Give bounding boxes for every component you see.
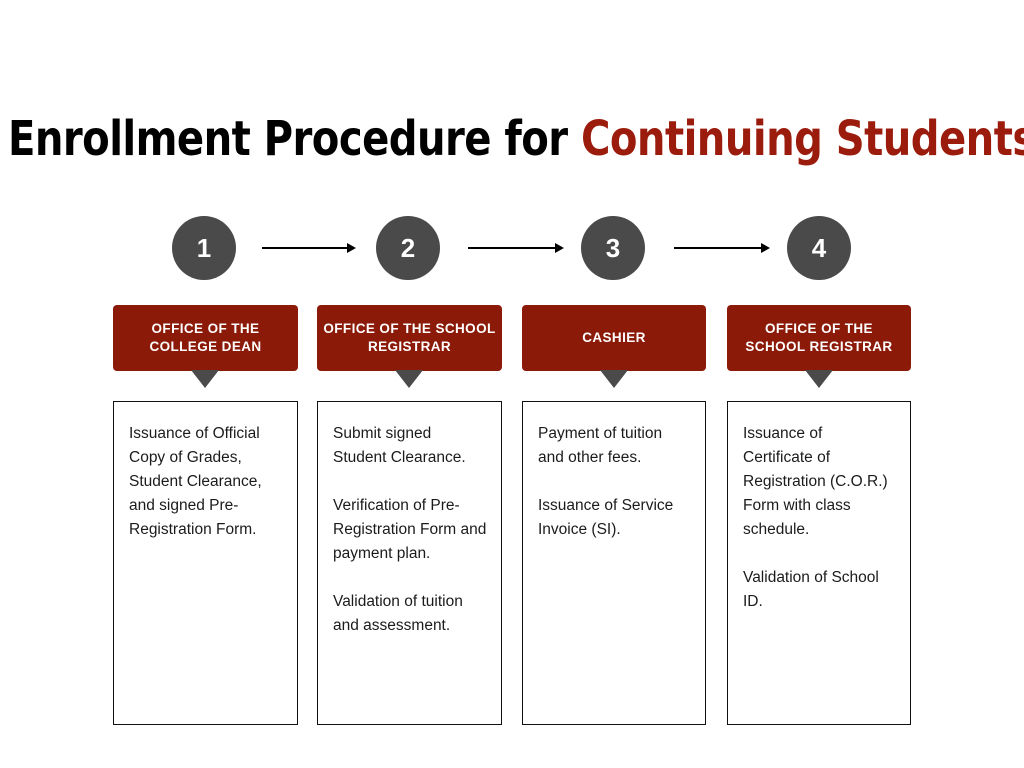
step-number-2: 2 xyxy=(401,233,415,264)
flow-arrow-3-to-4 xyxy=(674,241,770,255)
step-number-1: 1 xyxy=(197,233,211,264)
page-title: Enrollment Procedure for Continuing Stud… xyxy=(8,108,947,170)
page-title-primary: Enrollment Procedure for xyxy=(8,111,581,167)
step-number-4: 4 xyxy=(812,233,826,264)
office-banner-1: OFFICE OF THE COLLEGE DEAN xyxy=(113,305,298,371)
detail-box-4: Issuance of Certificate of Registration … xyxy=(727,401,911,725)
page-title-accent: Continuing Students xyxy=(581,111,1024,167)
detail-paragraph: Submit signed Student Clearance. xyxy=(333,422,487,470)
office-banner-label-1: OFFICE OF THE COLLEGE DEAN xyxy=(119,320,292,356)
detail-box-2: Submit signed Student Clearance. Verific… xyxy=(317,401,502,725)
detail-box-3: Payment of tuition and other fees. Issua… xyxy=(522,401,706,725)
pointer-triangle-4 xyxy=(805,370,833,388)
arrow-head-icon xyxy=(347,243,356,253)
arrow-head-icon xyxy=(555,243,564,253)
arrow-shaft xyxy=(262,247,348,249)
detail-paragraph: Issuance of Official Copy of Grades, Stu… xyxy=(129,422,283,542)
office-banner-label-4: OFFICE OF THE SCHOOL REGISTRAR xyxy=(733,320,905,356)
flow-arrow-1-to-2 xyxy=(262,241,356,255)
detail-paragraph: Issuance of Service Invoice (SI). xyxy=(538,494,691,542)
office-banner-2: OFFICE OF THE SCHOOL REGISTRAR xyxy=(317,305,502,371)
pointer-triangle-3 xyxy=(600,370,628,388)
office-banner-3: CASHIER xyxy=(522,305,706,371)
step-circle-3: 3 xyxy=(581,216,645,280)
flow-arrow-2-to-3 xyxy=(468,241,564,255)
office-banner-4: OFFICE OF THE SCHOOL REGISTRAR xyxy=(727,305,911,371)
detail-box-1: Issuance of Official Copy of Grades, Stu… xyxy=(113,401,298,725)
detail-paragraph: Validation of School ID. xyxy=(743,566,896,614)
pointer-triangle-2 xyxy=(395,370,423,388)
step-circle-4: 4 xyxy=(787,216,851,280)
office-banner-label-3: CASHIER xyxy=(582,329,646,347)
detail-paragraph: Issuance of Certificate of Registration … xyxy=(743,422,896,542)
detail-paragraph: Validation of tuition and assessment. xyxy=(333,590,487,638)
arrow-shaft xyxy=(468,247,556,249)
arrow-shaft xyxy=(674,247,762,249)
detail-paragraph: Payment of tuition and other fees. xyxy=(538,422,691,470)
detail-paragraph: Verification of Pre-Registration Form an… xyxy=(333,494,487,566)
step-circle-1: 1 xyxy=(172,216,236,280)
step-circle-2: 2 xyxy=(376,216,440,280)
arrow-head-icon xyxy=(761,243,770,253)
pointer-triangle-1 xyxy=(191,370,219,388)
step-number-3: 3 xyxy=(606,233,620,264)
office-banner-label-2: OFFICE OF THE SCHOOL REGISTRAR xyxy=(323,320,496,356)
enrollment-flowchart: Enrollment Procedure for Continuing Stud… xyxy=(0,0,1024,768)
